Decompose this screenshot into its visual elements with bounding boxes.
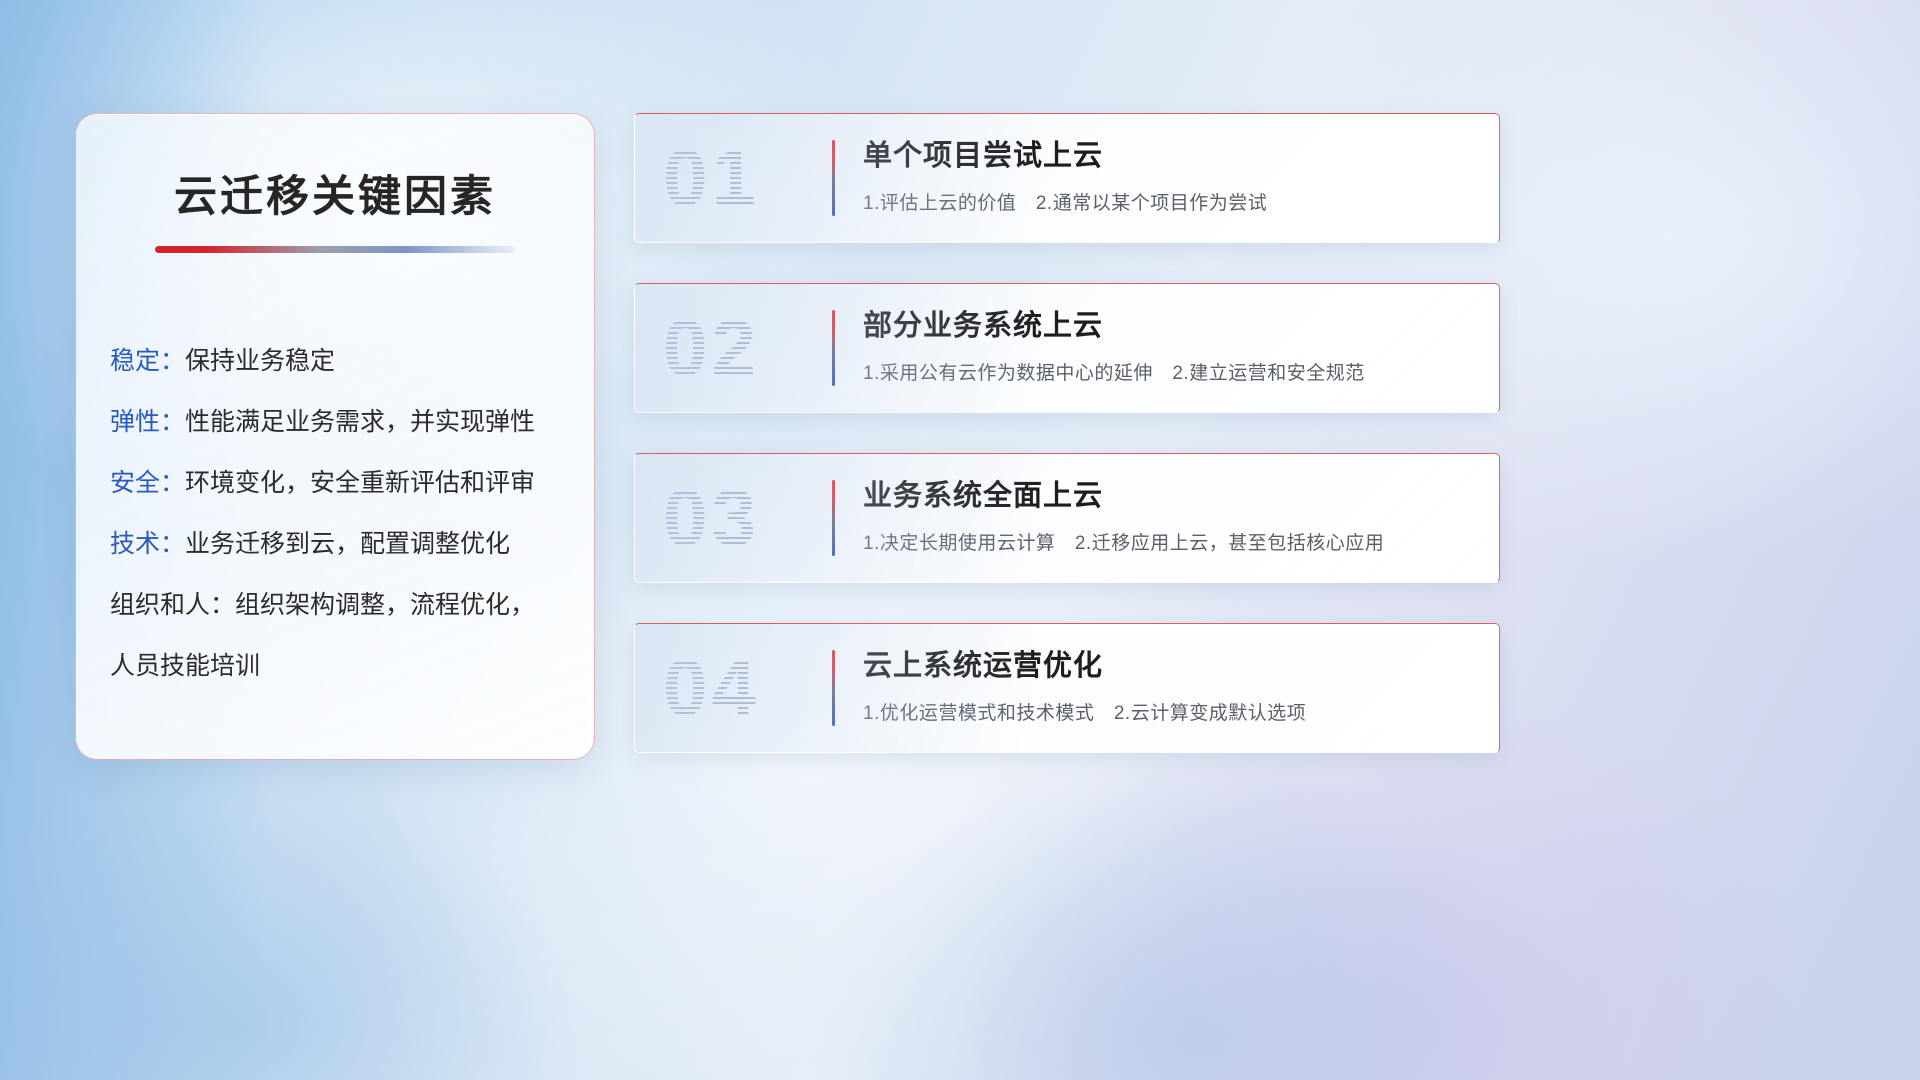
stage-content: 云上系统运营优化 1.优化运营模式和技术模式 2.云计算变成默认选项 <box>863 646 1473 725</box>
stage-card-01[interactable]: 01 单个项目尝试上云 1.评估上云的价值 2.通常以某个项目作为尝试 <box>634 113 1500 243</box>
stage-card-list: 01 单个项目尝试上云 1.评估上云的价值 2.通常以某个项目作为尝试 02 部… <box>634 113 1500 793</box>
stage-title: 部分业务系统上云 <box>863 306 1473 346</box>
list-item-text: 性能满足业务需求，并实现弹性 <box>185 408 535 436</box>
stage-number: 02 <box>663 302 760 394</box>
stage-content: 单个项目尝试上云 1.评估上云的价值 2.通常以某个项目作为尝试 <box>863 136 1473 215</box>
stage-content: 部分业务系统上云 1.采用公有云作为数据中心的延伸 2.建立运营和安全规范 <box>863 306 1473 385</box>
list-item-text: 保持业务稳定 <box>185 347 335 375</box>
list-item: 稳定：保持业务稳定 <box>110 331 568 392</box>
factor-list: 稳定：保持业务稳定 弹性：性能满足业务需求，并实现弹性 安全：环境变化，安全重新… <box>76 331 594 697</box>
list-item-label: 稳定： <box>110 347 185 375</box>
key-factors-panel: 云迁移关键因素 稳定：保持业务稳定 弹性：性能满足业务需求，并实现弹性 安全：环… <box>75 113 595 760</box>
stage-subtitle: 1.决定长期使用云计算 2.迁移应用上云，甚至包括核心应用 <box>863 528 1473 555</box>
stage-title: 云上系统运营优化 <box>863 646 1473 686</box>
stage-accent-bar <box>832 310 835 386</box>
list-item-label: 弹性： <box>110 408 185 436</box>
list-item-text: 人员技能培训 <box>110 652 260 680</box>
stage-title: 业务系统全面上云 <box>863 476 1473 516</box>
stage-number: 03 <box>663 472 760 564</box>
stage-card-04[interactable]: 04 云上系统运营优化 1.优化运营模式和技术模式 2.云计算变成默认选项 <box>634 623 1500 753</box>
stage-title: 单个项目尝试上云 <box>863 136 1473 176</box>
stage-card-03[interactable]: 03 业务系统全面上云 1.决定长期使用云计算 2.迁移应用上云，甚至包括核心应… <box>634 453 1500 583</box>
list-item-text: 组织架构调整，流程优化， <box>235 591 535 619</box>
stage-accent-bar <box>832 480 835 556</box>
stage-subtitle: 1.采用公有云作为数据中心的延伸 2.建立运营和安全规范 <box>863 358 1473 385</box>
list-item-label: 安全： <box>110 469 185 497</box>
stage-accent-bar <box>832 650 835 726</box>
stage-content: 业务系统全面上云 1.决定长期使用云计算 2.迁移应用上云，甚至包括核心应用 <box>863 476 1473 555</box>
list-item-continuation: 人员技能培训 <box>110 636 568 697</box>
list-item: 技术：业务迁移到云，配置调整优化 <box>110 514 568 575</box>
list-item-label: 技术： <box>110 530 185 558</box>
list-item-text: 业务迁移到云，配置调整优化 <box>185 530 510 558</box>
stage-number: 01 <box>663 132 760 224</box>
background-glow-bottom-center <box>806 756 1574 1080</box>
stage-number: 04 <box>663 642 760 734</box>
stage-card-02[interactable]: 02 部分业务系统上云 1.采用公有云作为数据中心的延伸 2.建立运营和安全规范 <box>634 283 1500 413</box>
title-underline-rule <box>155 246 515 253</box>
stage-subtitle: 1.评估上云的价值 2.通常以某个项目作为尝试 <box>863 188 1473 215</box>
stage-accent-bar <box>832 140 835 216</box>
list-item-label: 组织和人： <box>110 591 235 619</box>
page-title: 云迁移关键因素 <box>76 162 594 224</box>
stage-subtitle: 1.优化运营模式和技术模式 2.云计算变成默认选项 <box>863 698 1473 725</box>
list-item: 安全：环境变化，安全重新评估和评审 <box>110 453 568 514</box>
list-item: 弹性：性能满足业务需求，并实现弹性 <box>110 392 568 453</box>
list-item-text: 环境变化，安全重新评估和评审 <box>185 469 535 497</box>
list-item: 组织和人：组织架构调整，流程优化， <box>110 575 568 636</box>
